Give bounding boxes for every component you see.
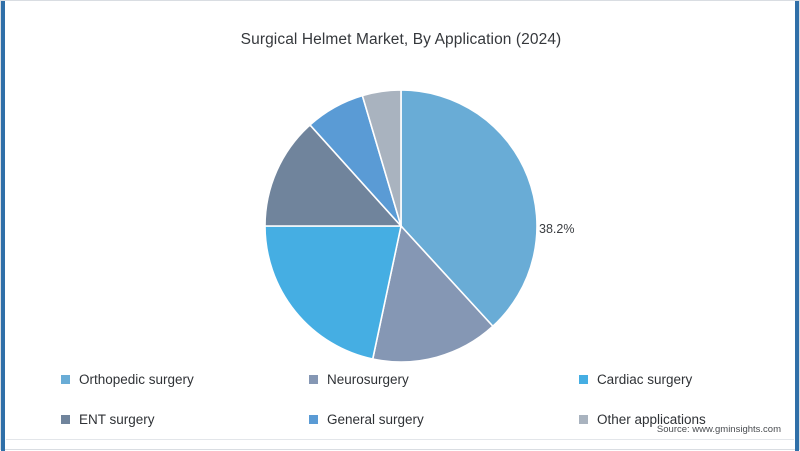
legend-item-label: Orthopedic surgery (79, 372, 194, 387)
page-title: Surgical Helmet Market, By Application (… (1, 31, 800, 49)
legend-swatch-icon (61, 375, 70, 384)
pie-chart (264, 89, 538, 363)
legend-row: ENT surgery General surgery Other applic… (61, 399, 751, 439)
legend-item-ent-surgery[interactable]: ENT surgery (61, 412, 291, 427)
legend-swatch-icon (309, 375, 318, 384)
legend-item-label: General surgery (327, 412, 424, 427)
slice-percentage-label: 38.2% (539, 222, 574, 236)
left-accent-bar (1, 1, 5, 451)
legend-item-orthopedic-surgery[interactable]: Orthopedic surgery (61, 372, 291, 387)
legend-swatch-icon (579, 375, 588, 384)
legend-item-label: Cardiac surgery (597, 372, 692, 387)
source-credit: Source: www.gminsights.com (657, 424, 781, 435)
chart-legend: Orthopedic surgery Neurosurgery Cardiac … (61, 359, 751, 439)
pie-chart-svg (264, 89, 538, 363)
chart-page: Surgical Helmet Market, By Application (… (0, 0, 800, 450)
right-accent-bar (795, 1, 799, 451)
legend-swatch-icon (309, 415, 318, 424)
legend-row: Orthopedic surgery Neurosurgery Cardiac … (61, 359, 751, 399)
legend-item-general-surgery[interactable]: General surgery (291, 412, 521, 427)
legend-swatch-icon (579, 415, 588, 424)
legend-item-neurosurgery[interactable]: Neurosurgery (291, 372, 521, 387)
legend-item-label: ENT surgery (79, 412, 155, 427)
legend-swatch-icon (61, 415, 70, 424)
footer-divider (6, 439, 794, 440)
legend-item-cardiac-surgery[interactable]: Cardiac surgery (521, 372, 751, 387)
legend-item-label: Neurosurgery (327, 372, 409, 387)
